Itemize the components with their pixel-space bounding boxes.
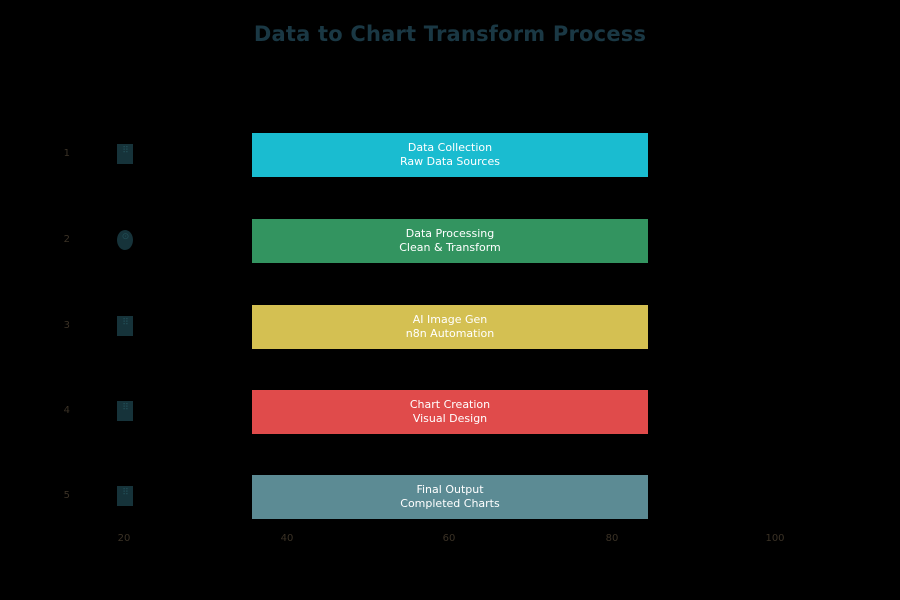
- clipboard-emoji: ⠿: [117, 144, 133, 164]
- y-tick-label-4: 4: [46, 405, 70, 416]
- gear-emoji: ⊙: [117, 230, 133, 250]
- sparkles-emoji: ⠿: [117, 486, 133, 506]
- x-tick-label-2: 60: [429, 533, 469, 544]
- y-tick-label-1: 1: [46, 148, 70, 159]
- y-tick-label-5: 5: [46, 490, 70, 501]
- y-tick-label-2: 2: [46, 234, 70, 245]
- y-tick-label-3: 3: [46, 320, 70, 331]
- bar-rect-2[interactable]: [252, 219, 648, 263]
- bar-rect-1[interactable]: [252, 133, 648, 177]
- x-tick-label-1: 40: [267, 533, 307, 544]
- robot-emoji: ⠿: [117, 316, 133, 336]
- chart-emoji: ⠿: [117, 401, 133, 421]
- bar-rect-3[interactable]: [252, 305, 648, 349]
- bar-rect-5[interactable]: [252, 475, 648, 519]
- x-tick-label-4: 100: [755, 533, 795, 544]
- chart-figure: Data to Chart Transform Process Data Col…: [0, 0, 900, 600]
- plot-area: Data Collection Raw Data Sources ⠿ 1 Dat…: [0, 0, 900, 600]
- x-tick-label-0: 20: [104, 533, 144, 544]
- x-tick-label-3: 80: [592, 533, 632, 544]
- bar-rect-4[interactable]: [252, 390, 648, 434]
